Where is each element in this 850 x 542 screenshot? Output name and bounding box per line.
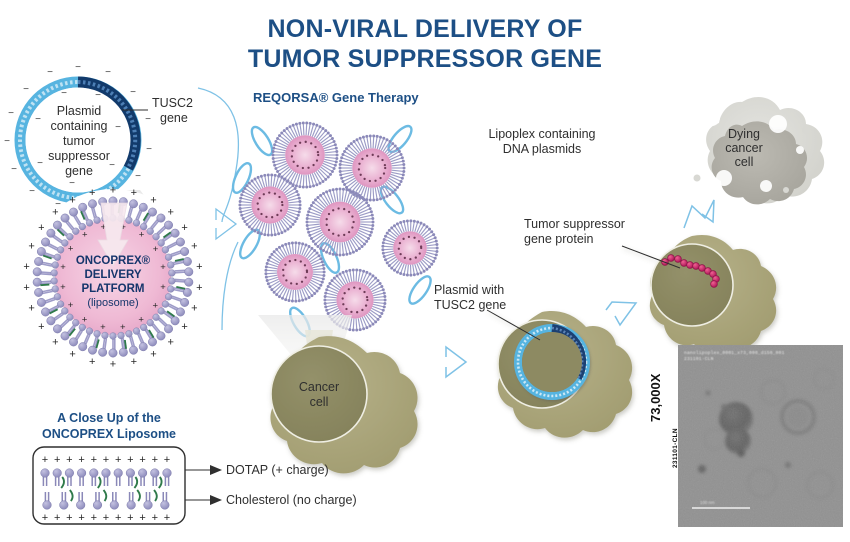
- svg-text:+: +: [91, 512, 97, 524]
- svg-text:+: +: [42, 454, 48, 466]
- svg-text:+: +: [152, 454, 158, 466]
- dying-cell-label: Dying cancer cell: [714, 127, 774, 169]
- svg-text:+: +: [181, 222, 187, 234]
- dying-cell-line2: cancer: [714, 141, 774, 155]
- svg-text:+: +: [52, 337, 58, 349]
- svg-text:+: +: [54, 454, 60, 466]
- flow-arrow-left: [216, 209, 236, 239]
- plasmid-in-cell: [518, 328, 586, 396]
- micrograph-metadata: nanolipoplex_0001_x73,000_d150_001 23110…: [684, 351, 785, 363]
- dna-plasmid-ellipse: [236, 227, 263, 261]
- svg-text:+: +: [127, 454, 133, 466]
- arrow-cell3-to-dying: [684, 200, 714, 228]
- lipoplex: [238, 173, 301, 236]
- legend-arrow-cholesterol: [210, 495, 222, 505]
- cancer-cell-2: [487, 310, 632, 438]
- plasmid-body-line4: suppressor: [34, 149, 124, 164]
- electron-micrograph-panel: nanolipoplex_0001_x73,000_d150_001 23110…: [678, 345, 843, 527]
- dying-cell-line1: Dying: [714, 127, 774, 141]
- svg-text:+: +: [127, 512, 133, 524]
- svg-text:+: +: [66, 512, 72, 524]
- svg-text:+: +: [196, 261, 202, 273]
- dna-plasmid-ellipse: [229, 161, 254, 195]
- micrograph-meta-line2: 231101-CLN: [684, 357, 785, 363]
- legend-arrow-dotap: [210, 465, 222, 475]
- cancer-cell-line1: Cancer: [284, 380, 354, 395]
- lipoplex-note: Lipoplex containing DNA plasmids: [462, 127, 622, 157]
- arrow-cell1-to-cell2: [446, 347, 466, 377]
- svg-text:−: −: [105, 67, 111, 78]
- liposome-label-line3: PLATFORM: [53, 282, 173, 296]
- tusc2-label-line1: TUSC2: [152, 96, 222, 111]
- svg-text:+: +: [23, 261, 29, 273]
- svg-text:+: +: [164, 454, 170, 466]
- svg-text:+: +: [100, 322, 106, 333]
- micrograph-scale-label: 100 nm: [700, 500, 715, 505]
- svg-text:+: +: [139, 454, 145, 466]
- svg-text:+: +: [191, 302, 197, 314]
- svg-text:−: −: [135, 171, 141, 182]
- liposome-label: ONCOPREX® DELIVERY PLATFORM (liposome): [53, 254, 173, 310]
- svg-text:+: +: [89, 356, 95, 368]
- svg-text:+: +: [38, 222, 44, 234]
- svg-text:−: −: [29, 186, 35, 197]
- lipoplex-cluster: [229, 122, 438, 340]
- svg-text:+: +: [89, 187, 95, 199]
- svg-text:+: +: [103, 512, 109, 524]
- diagram-canvas: NON-VIRAL DELIVERY OF TUMOR SUPPRESSOR G…: [0, 0, 850, 542]
- svg-text:+: +: [103, 454, 109, 466]
- svg-text:+: +: [91, 454, 97, 466]
- liposome-label-line4: (liposome): [53, 296, 173, 310]
- dna-plasmid-ellipse: [377, 183, 407, 216]
- svg-text:+: +: [139, 230, 145, 241]
- protein-label-line1: Tumor suppressor: [524, 217, 644, 232]
- svg-text:+: +: [52, 206, 58, 218]
- lipoplex: [381, 219, 438, 276]
- protein-label: Tumor suppressor gene protein: [524, 217, 644, 247]
- svg-text:+: +: [131, 187, 137, 199]
- svg-text:+: +: [82, 314, 88, 325]
- lipoplex-note-line1: Lipoplex containing: [462, 127, 622, 142]
- cancer-cell-label: Cancer cell: [284, 380, 354, 410]
- svg-text:+: +: [28, 241, 34, 253]
- liposome-label-line1: ONCOPREX®: [53, 254, 173, 268]
- svg-text:+: +: [138, 315, 144, 326]
- svg-text:+: +: [150, 349, 156, 361]
- plasmid-body-line5: gene: [34, 164, 124, 179]
- svg-text:+: +: [167, 337, 173, 349]
- plasmid-body-line3: tumor: [34, 134, 124, 149]
- svg-text:+: +: [139, 512, 145, 524]
- svg-text:−: −: [4, 136, 10, 147]
- svg-text:+: +: [78, 512, 84, 524]
- tusc2-gene-label: TUSC2 gene: [152, 96, 222, 126]
- closeup-heading: A Close Up of the ONCOPREX Liposome: [24, 410, 194, 442]
- legend-dotap-label: DOTAP (+ charge): [226, 463, 329, 478]
- svg-text:+: +: [68, 244, 74, 255]
- svg-text:+: +: [69, 349, 75, 361]
- svg-text:+: +: [150, 194, 156, 206]
- legend-cholesterol-label: Cholesterol (no charge): [226, 493, 357, 508]
- svg-text:+: +: [54, 512, 60, 524]
- magnification-label: 73,000X: [648, 374, 663, 422]
- plasmid-body-label: Plasmid containing tumor suppressor gene: [34, 104, 124, 179]
- svg-text:−: −: [61, 88, 67, 99]
- protein-label-line2: gene protein: [524, 232, 644, 247]
- svg-text:+: +: [181, 321, 187, 333]
- closeup-heading-line2: ONCOPREX Liposome: [24, 426, 194, 442]
- svg-text:+: +: [115, 512, 121, 524]
- micrograph-scale-bar: [692, 507, 750, 509]
- svg-text:−: −: [23, 84, 29, 95]
- micrograph-sample-id: 231101-CLN: [672, 428, 679, 468]
- lipoplex: [338, 135, 405, 202]
- svg-text:+: +: [115, 454, 121, 466]
- plasmid-body-line1: Plasmid: [34, 104, 124, 119]
- closeup-heading-line1: A Close Up of the: [24, 410, 194, 426]
- svg-text:−: −: [146, 144, 152, 155]
- plasmid-body-line2: containing: [34, 119, 124, 134]
- svg-text:+: +: [38, 321, 44, 333]
- reqorsa-heading: REQORSA® Gene Therapy: [253, 90, 419, 105]
- dna-plasmid-ellipse: [405, 273, 434, 307]
- svg-text:−: −: [95, 90, 101, 101]
- lipoplex: [264, 241, 325, 302]
- svg-text:−: −: [47, 67, 53, 78]
- svg-text:+: +: [110, 185, 116, 197]
- tusc2-label-line2: gene: [152, 111, 222, 126]
- plasmid-tusc2-line2: TUSC2 gene: [434, 298, 534, 313]
- svg-text:−: −: [145, 114, 151, 125]
- svg-text:+: +: [191, 241, 197, 253]
- svg-text:+: +: [152, 512, 158, 524]
- svg-text:+: +: [23, 282, 29, 294]
- cancer-cell-line2: cell: [284, 395, 354, 410]
- lipoplex-note-line2: DNA plasmids: [462, 142, 622, 157]
- cancer-cell-3: [622, 235, 776, 353]
- svg-text:+: +: [42, 512, 48, 524]
- svg-text:+: +: [110, 359, 116, 371]
- svg-text:+: +: [164, 512, 170, 524]
- svg-text:+: +: [120, 322, 126, 333]
- svg-text:−: −: [69, 178, 75, 189]
- svg-text:−: −: [11, 164, 17, 175]
- svg-text:+: +: [167, 206, 173, 218]
- svg-text:+: +: [28, 302, 34, 314]
- plasmid-tusc2-line1: Plasmid with: [434, 283, 534, 298]
- dna-plasmid-ellipse: [248, 124, 276, 158]
- svg-text:+: +: [69, 194, 75, 206]
- dying-cell-line3: cell: [714, 155, 774, 169]
- svg-text:−: −: [130, 87, 136, 98]
- liposome-label-line2: DELIVERY: [53, 268, 173, 282]
- svg-text:+: +: [66, 454, 72, 466]
- svg-text:−: −: [8, 108, 14, 119]
- svg-text:+: +: [196, 282, 202, 294]
- plasmid-tusc2-label: Plasmid with TUSC2 gene: [434, 283, 534, 313]
- svg-text:+: +: [82, 229, 88, 240]
- arrow-cell2-to-cell3: [606, 302, 636, 325]
- svg-text:+: +: [131, 356, 137, 368]
- svg-text:−: −: [75, 62, 81, 73]
- closeup-bilayer-box: ++++++++++++++++++++++: [33, 447, 222, 524]
- svg-text:+: +: [78, 454, 84, 466]
